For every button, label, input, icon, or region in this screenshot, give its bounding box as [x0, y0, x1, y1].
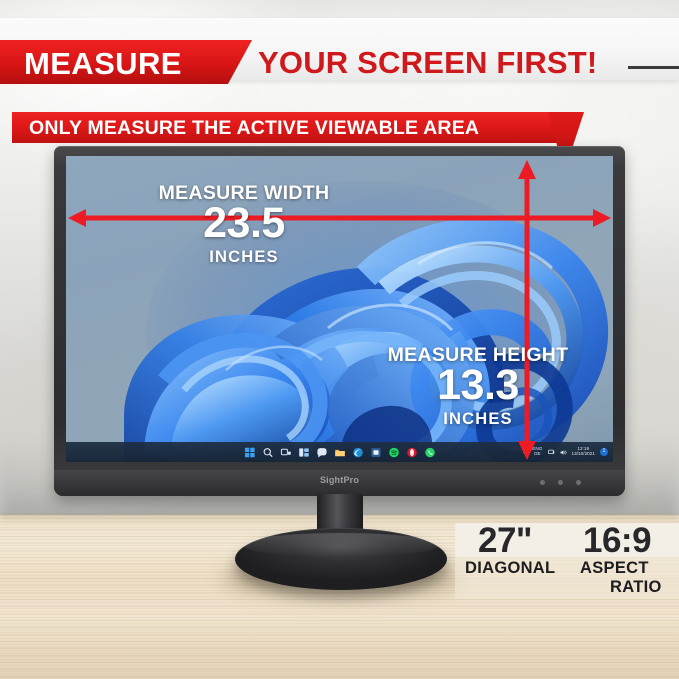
windows-start-icon[interactable]: [244, 447, 255, 458]
chevron-up-icon[interactable]: ∧: [522, 448, 527, 455]
header-band: MEASURE YOUR SCREEN FIRST!: [0, 18, 679, 80]
volume-icon[interactable]: [560, 449, 567, 456]
file-explorer-icon[interactable]: [334, 447, 345, 458]
aspect-caption-line2: RATIO: [610, 578, 662, 597]
viewable-area-banner: ONLY MEASURE THE ACTIVE VIEWABLE AREA: [12, 112, 576, 143]
viewable-area-banner-label: ONLY MEASURE THE ACTIVE VIEWABLE AREA: [29, 117, 479, 140]
monitor-screen: ∧ ENG DE 12:19 13/10/20: [66, 156, 613, 462]
windows-taskbar[interactable]: ∧ ENG DE 12:19 13/10/20: [66, 442, 613, 462]
horizontal-rule-icon: [628, 66, 679, 69]
microsoft-store-icon[interactable]: [370, 447, 381, 458]
whatsapp-icon[interactable]: [424, 447, 435, 458]
opera-icon[interactable]: [406, 447, 417, 458]
edge-browser-icon[interactable]: [352, 447, 363, 458]
aspect-value: 16:9: [583, 521, 651, 561]
monitor-body: ∧ ENG DE 12:19 13/10/20: [54, 146, 625, 496]
bloom-artwork: [66, 156, 613, 462]
header-tag-label: MEASURE: [24, 46, 182, 82]
monitor-brand-label: SightPro: [320, 475, 359, 485]
taskbar-clock[interactable]: 12:19 13/10/2021: [572, 447, 596, 457]
network-icon[interactable]: [548, 449, 555, 456]
header-headline: YOUR SCREEN FIRST!: [258, 45, 597, 81]
desktop-wallpaper: [66, 156, 613, 462]
monitor-stand-base: [235, 528, 447, 590]
widgets-icon[interactable]: [298, 447, 309, 458]
monitor-button-3[interactable]: [576, 480, 581, 485]
diagonal-caption: DIAGONAL: [465, 559, 555, 578]
chat-icon[interactable]: [316, 447, 327, 458]
spec-panel: 27" 16:9 DIAGONAL ASPECT RATIO: [455, 523, 679, 599]
aspect-caption-line1: ASPECT: [580, 559, 649, 578]
monitor-chin: SightPro: [54, 470, 625, 496]
taskbar-icon-group[interactable]: [244, 442, 435, 462]
diagonal-value: 27": [478, 521, 532, 561]
spotify-icon[interactable]: [388, 447, 399, 458]
task-view-icon[interactable]: [280, 447, 291, 458]
product-infographic: MEASURE YOUR SCREEN FIRST! ONLY MEASURE …: [0, 0, 679, 679]
system-tray[interactable]: ∧ ENG DE 12:19 13/10/20: [522, 442, 608, 462]
notification-badge[interactable]: 1: [600, 448, 608, 456]
language-indicator[interactable]: ENG DE: [532, 447, 542, 457]
monitor-control-buttons[interactable]: [540, 480, 581, 485]
search-icon[interactable]: [262, 447, 273, 458]
monitor-button-1[interactable]: [540, 480, 545, 485]
monitor-button-2[interactable]: [558, 480, 563, 485]
header-tag-badge: MEASURE: [0, 40, 252, 84]
